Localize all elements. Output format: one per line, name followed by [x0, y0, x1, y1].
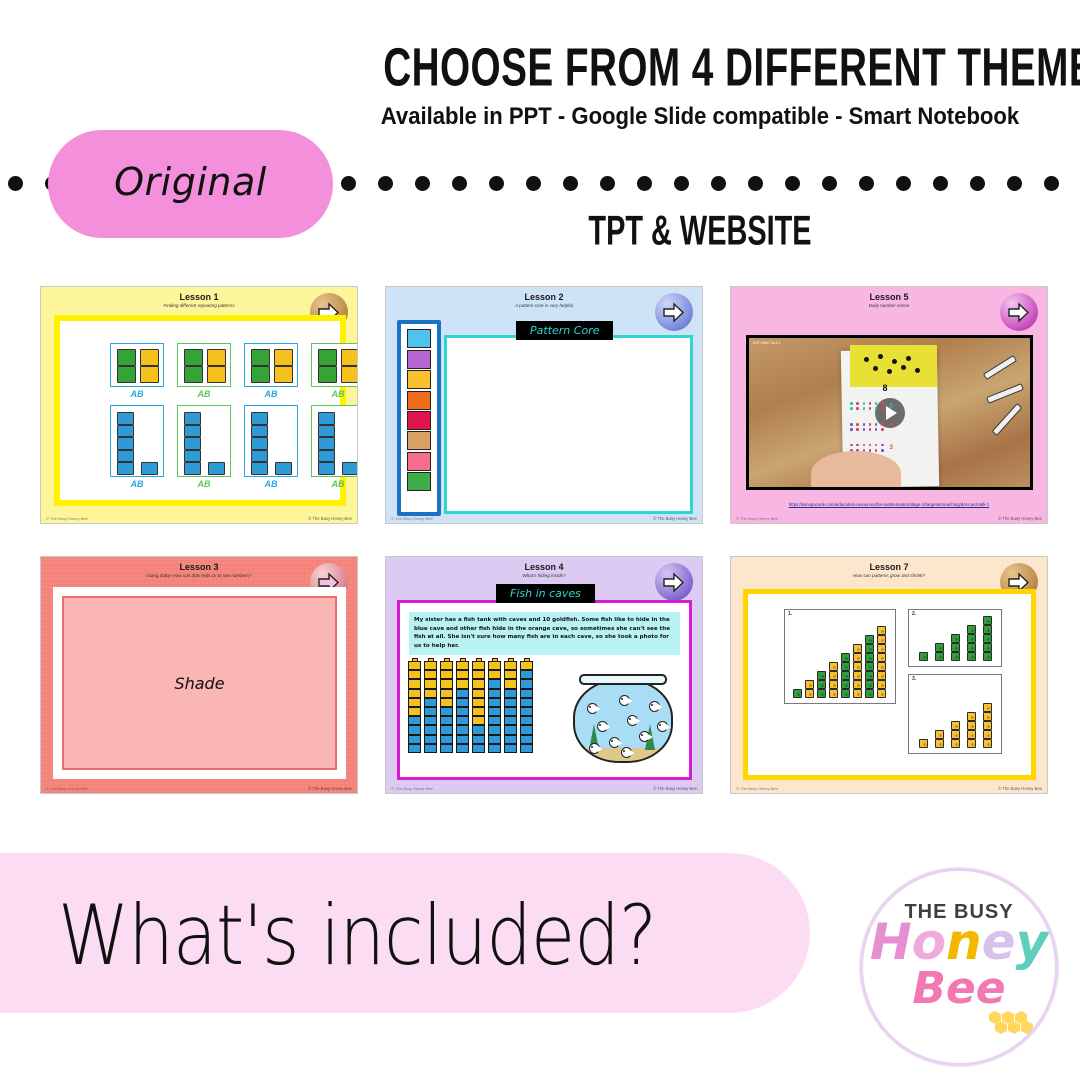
growing-pattern-panel-2: 2. [908, 609, 1002, 667]
slide-preview-grid: Lesson 1 Finding different repeating pat… [0, 282, 1080, 812]
shade-area[interactable]: Shade [62, 596, 337, 770]
cube [318, 349, 337, 366]
cube [408, 735, 421, 744]
dot-card-dot [915, 368, 920, 373]
cube [983, 712, 992, 721]
ten-frame-tower [472, 661, 485, 753]
cube [251, 349, 270, 366]
cube [440, 689, 453, 698]
cube [865, 680, 874, 689]
cube [504, 716, 517, 725]
dot-card-dot [856, 423, 859, 426]
cube [408, 689, 421, 698]
ten-frame-tower [424, 661, 437, 753]
slide-preview-lesson-7[interactable]: Lesson 7 How can patterns grow and shrin… [730, 556, 1048, 794]
cube [935, 652, 944, 661]
cube [951, 643, 960, 652]
dot-card-numeral: 5 [890, 404, 893, 410]
color-swatch[interactable] [407, 329, 431, 348]
cube [184, 462, 201, 475]
cube [504, 735, 517, 744]
pattern-card [110, 405, 164, 477]
fish-icon [589, 743, 603, 754]
cube [919, 652, 928, 661]
cube [424, 707, 437, 716]
cube [184, 366, 203, 383]
cube [967, 652, 976, 661]
cube [117, 366, 136, 383]
cube [488, 716, 501, 725]
dot-card-dot [901, 365, 906, 370]
cube [251, 462, 268, 475]
cube [472, 698, 485, 707]
slide-footer-right: © The Busy Honey Bee [998, 516, 1042, 521]
cube [488, 679, 501, 688]
divider-dot [748, 176, 763, 191]
cube [440, 725, 453, 734]
cube [919, 739, 928, 748]
cube [472, 744, 485, 753]
cube [424, 744, 437, 753]
dot-card-dot [850, 407, 853, 410]
panel-number: 3. [912, 676, 916, 682]
cube [520, 716, 533, 725]
cube [472, 661, 485, 670]
ten-frame-tower [408, 661, 421, 753]
slide-footer-left: © The Busy Honey Bee [46, 516, 88, 521]
slide-footer-left: © The Busy Honey Bee [391, 516, 433, 521]
fish-icon [627, 715, 641, 726]
divider-dot [341, 176, 356, 191]
cube [967, 739, 976, 748]
cube [184, 412, 201, 425]
cube [877, 662, 886, 671]
dot-card-dot [863, 407, 866, 410]
cube [408, 707, 421, 716]
cube [440, 716, 453, 725]
slide-title: Lesson 4 [386, 562, 702, 572]
cube [408, 744, 421, 753]
divider-dot [896, 176, 911, 191]
play-button-icon[interactable] [875, 398, 905, 428]
cube [251, 437, 268, 450]
cube [829, 680, 838, 689]
divider-dot [1007, 176, 1022, 191]
color-swatch[interactable] [407, 431, 431, 450]
cube [841, 680, 850, 689]
cube [520, 725, 533, 734]
slide-footer-right: © The Busy Honey Bee [308, 516, 352, 521]
pattern-card [244, 343, 298, 387]
cube [424, 698, 437, 707]
slide-preview-lesson-3[interactable]: Lesson 3 Going dotty! How can dots help … [40, 556, 358, 794]
cube [251, 412, 268, 425]
cube [424, 716, 437, 725]
cube [504, 744, 517, 753]
cube [342, 462, 358, 475]
pattern-card [177, 405, 231, 477]
video-number: 8 [882, 383, 887, 393]
cube [504, 698, 517, 707]
cube [472, 679, 485, 688]
cube [117, 349, 136, 366]
cube [472, 735, 485, 744]
cube [877, 644, 886, 653]
hand [811, 451, 901, 490]
ten-frame-tower [456, 661, 469, 753]
whats-included-banner: What's included? [0, 853, 810, 1013]
pattern-card [110, 343, 164, 387]
dot-card-dot [856, 402, 859, 405]
dot-card-dot [850, 423, 853, 426]
color-swatch[interactable] [407, 472, 431, 491]
fish-bowl-illustration [569, 665, 677, 765]
panel-number: 2. [912, 611, 916, 617]
cube [488, 689, 501, 698]
cube [424, 689, 437, 698]
cube [117, 462, 134, 475]
cube [967, 730, 976, 739]
divider-dot [489, 176, 504, 191]
divider-dot [933, 176, 948, 191]
dot-card-dot [881, 407, 884, 410]
cube [318, 462, 335, 475]
cube [456, 670, 469, 679]
cube [456, 707, 469, 716]
slide-footer-left: © The Busy Honey Bee [736, 516, 778, 521]
pattern-label: AB [244, 389, 298, 399]
cube [472, 670, 485, 679]
ten-frame-tower [440, 661, 453, 753]
cube [251, 450, 268, 463]
theme-pill-label: Original [114, 160, 267, 204]
brand-logo: THE BUSY Honey Bee [860, 868, 1058, 1066]
cube-towers [408, 661, 548, 761]
cube [440, 698, 453, 707]
dot-card-dot [856, 428, 859, 431]
color-swatch[interactable] [407, 452, 431, 471]
cube [853, 680, 862, 689]
cube [935, 643, 944, 652]
divider-dot [785, 176, 800, 191]
pattern-card [244, 405, 298, 477]
fish-icon [649, 701, 663, 712]
cube [967, 643, 976, 652]
dot-card-dot [881, 423, 884, 426]
fish-icon [587, 703, 601, 714]
cube [951, 652, 960, 661]
cube [341, 366, 358, 383]
cube [424, 735, 437, 744]
cube [472, 725, 485, 734]
cube [877, 689, 886, 698]
cube [877, 680, 886, 689]
cube [983, 703, 992, 712]
cube [251, 366, 270, 383]
dot-card-dot [881, 428, 884, 431]
cube [318, 437, 335, 450]
pattern-label: AB [110, 479, 164, 489]
cube [275, 462, 292, 475]
cube [853, 671, 862, 680]
slide-footer-left: © The Busy Honey Bee [736, 786, 778, 791]
divider-dot [859, 176, 874, 191]
fish-icon [619, 695, 633, 706]
cube [424, 725, 437, 734]
pattern-core-label: Pattern Core [516, 321, 613, 340]
color-palette-strip[interactable] [397, 320, 441, 516]
cube [117, 412, 134, 425]
divider-dot [637, 176, 652, 191]
cube [472, 689, 485, 698]
dot-card-dot [850, 428, 853, 431]
divider-dot [600, 176, 615, 191]
cube [488, 670, 501, 679]
cube [935, 739, 944, 748]
cube [520, 670, 533, 679]
divider-dot [415, 176, 430, 191]
fish-in-caves-label: Fish in caves [496, 584, 595, 603]
arrow-right-icon[interactable] [655, 563, 693, 601]
slide-footer-left: © The Busy Honey Bee [391, 786, 433, 791]
cube [520, 661, 533, 670]
cube [504, 725, 517, 734]
cube [424, 679, 437, 688]
slide-footer-left: © The Busy Honey Bee [46, 786, 88, 791]
slide-footer-right: © The Busy Honey Bee [653, 516, 697, 521]
pattern-card [311, 405, 358, 477]
dot-card-dot [856, 407, 859, 410]
growing-pattern-panel-1: 1. [784, 609, 896, 704]
cube [935, 730, 944, 739]
cube [318, 412, 335, 425]
cube [865, 662, 874, 671]
cube [983, 625, 992, 634]
fish-icon [621, 747, 635, 758]
cube [817, 680, 826, 689]
cube [117, 437, 134, 450]
divider-dot [674, 176, 689, 191]
cube [805, 680, 814, 689]
cube [184, 349, 203, 366]
cube [440, 735, 453, 744]
cube [440, 744, 453, 753]
cube [967, 625, 976, 634]
cube [841, 689, 850, 698]
cube [983, 739, 992, 748]
cube [456, 716, 469, 725]
cube [967, 721, 976, 730]
pattern-card [177, 343, 231, 387]
cube [967, 634, 976, 643]
cube [456, 725, 469, 734]
cube [408, 670, 421, 679]
arrow-right-icon[interactable] [655, 293, 693, 331]
cube [877, 653, 886, 662]
cube [456, 698, 469, 707]
theme-pill-original[interactable]: Original [48, 130, 333, 238]
shade-label: Shade [174, 674, 224, 693]
cube [456, 735, 469, 744]
dot-card-dot [863, 428, 866, 431]
divider-dot [8, 176, 23, 191]
video-yellow-card [850, 345, 937, 387]
fish-icon [597, 721, 611, 732]
fish-icon [639, 731, 653, 742]
cube [274, 349, 293, 366]
cube [504, 661, 517, 670]
divider-dot [563, 176, 578, 191]
dot-card-numeral: 3 [890, 445, 893, 451]
bowl-rim [579, 674, 667, 685]
divider-dot [970, 176, 985, 191]
ten-frame-tower [504, 661, 517, 753]
cube [504, 679, 517, 688]
pattern-label: AB [311, 389, 358, 399]
cube [865, 635, 874, 644]
cube [520, 735, 533, 744]
page-subline: Available in PPT - Google Slide compatib… [360, 100, 1041, 134]
cube [805, 689, 814, 698]
cube [983, 652, 992, 661]
cube [853, 653, 862, 662]
cube [424, 661, 437, 670]
dot-card-dot [869, 423, 872, 426]
cube [341, 349, 358, 366]
slide-title: Lesson 3 [41, 562, 357, 572]
slide-preview-lesson-4[interactable]: Lesson 4 What's hiding inside? My sister… [385, 556, 703, 794]
cube [408, 698, 421, 707]
color-swatch[interactable] [407, 350, 431, 369]
dot-card-numeral: 3 [890, 424, 893, 430]
color-swatch[interactable] [407, 411, 431, 430]
arrow-right-icon[interactable] [1000, 293, 1038, 331]
slide-title: Lesson 2 [386, 292, 702, 302]
cube [829, 662, 838, 671]
cube [488, 744, 501, 753]
cube [983, 634, 992, 643]
cube [488, 698, 501, 707]
slide-canvas: Shade [53, 587, 346, 779]
divider-dot [378, 176, 393, 191]
banner-text: What's included? [58, 887, 656, 984]
pattern-label: AB [177, 479, 231, 489]
pattern-label: AB [177, 389, 231, 399]
cube [877, 671, 886, 680]
cube [983, 616, 992, 625]
slide-preview-lesson-1[interactable]: Lesson 1 Finding different repeating pat… [40, 286, 358, 524]
cube [117, 425, 134, 438]
growing-pattern-panel-3: 3. [908, 674, 1002, 754]
cube [504, 670, 517, 679]
page-header: CHOOSE FROM 4 DIFFERENT THEMES: Availabl… [0, 0, 1080, 270]
slide-footer-right: © The Busy Honey Bee [653, 786, 697, 791]
cube [841, 662, 850, 671]
cube [207, 349, 226, 366]
dot-card-dot [887, 369, 892, 374]
cube [472, 716, 485, 725]
divider-dot [822, 176, 837, 191]
slide-canvas: My sister has a fish tank with caves and… [397, 600, 692, 780]
pattern-label: AB [311, 479, 358, 489]
honeycomb-icon [989, 1011, 1035, 1041]
cube [520, 679, 533, 688]
divider-dot [1044, 176, 1059, 191]
cube [140, 366, 159, 383]
slide-preview-lesson-5[interactable]: Lesson 5 Daily number sense DOT CARD TAL… [730, 286, 1048, 524]
cube [841, 653, 850, 662]
cube [853, 644, 862, 653]
divider-dot [711, 176, 726, 191]
cube [207, 366, 226, 383]
cube [456, 744, 469, 753]
cube [488, 735, 501, 744]
slide-preview-lesson-2[interactable]: Lesson 2 A pattern core is very helpful … [385, 286, 703, 524]
panel-number: 1. [788, 611, 792, 617]
slide-canvas: 1. 2. 3. [743, 589, 1036, 780]
cube [408, 679, 421, 688]
slide-canvas: ABABABABABABABAB [54, 315, 346, 506]
slide-title: Lesson 5 [731, 292, 1047, 302]
cube [184, 437, 201, 450]
color-swatch[interactable] [407, 370, 431, 389]
pattern-label: AB [110, 389, 164, 399]
slide-canvas [444, 335, 693, 514]
cube [951, 721, 960, 730]
cube [184, 450, 201, 463]
cube [865, 671, 874, 680]
cube [793, 689, 802, 698]
video-thumbnail[interactable]: DOT CARD TALK 1 8 533 [746, 335, 1033, 490]
cube [504, 707, 517, 716]
dot-card-dot [850, 402, 853, 405]
cube [456, 661, 469, 670]
cube [140, 349, 159, 366]
cube [853, 689, 862, 698]
word-problem-text: My sister has a fish tank with caves and… [409, 612, 680, 655]
video-caption: DOT CARD TALK 1 [753, 341, 781, 345]
bowl-glass [573, 679, 673, 763]
cube [829, 671, 838, 680]
cube [408, 716, 421, 725]
cube [983, 643, 992, 652]
slide-title: Lesson 1 [41, 292, 357, 302]
cube [983, 721, 992, 730]
slide-footer-right: © The Busy Honey Bee [998, 786, 1042, 791]
ten-frame-tower [488, 661, 501, 753]
dot-card-dot [863, 402, 866, 405]
cube [520, 744, 533, 753]
pattern-label: AB [244, 479, 298, 489]
cube [520, 698, 533, 707]
logo-line-bee: Bee [863, 963, 1055, 1014]
cube [951, 739, 960, 748]
slide-footer-right: © The Busy Honey Bee [308, 786, 352, 791]
cube [440, 679, 453, 688]
cube [440, 661, 453, 670]
cube [141, 462, 158, 475]
cube [829, 689, 838, 698]
cube [318, 366, 337, 383]
cube [951, 730, 960, 739]
dot-card-dot [881, 449, 884, 452]
resource-link[interactable]: https://isinspacode.com/education-resour… [741, 502, 1037, 509]
color-swatch[interactable] [407, 391, 431, 410]
cube [967, 712, 976, 721]
cube [853, 662, 862, 671]
dot-card-dot [881, 402, 884, 405]
cube [408, 661, 421, 670]
